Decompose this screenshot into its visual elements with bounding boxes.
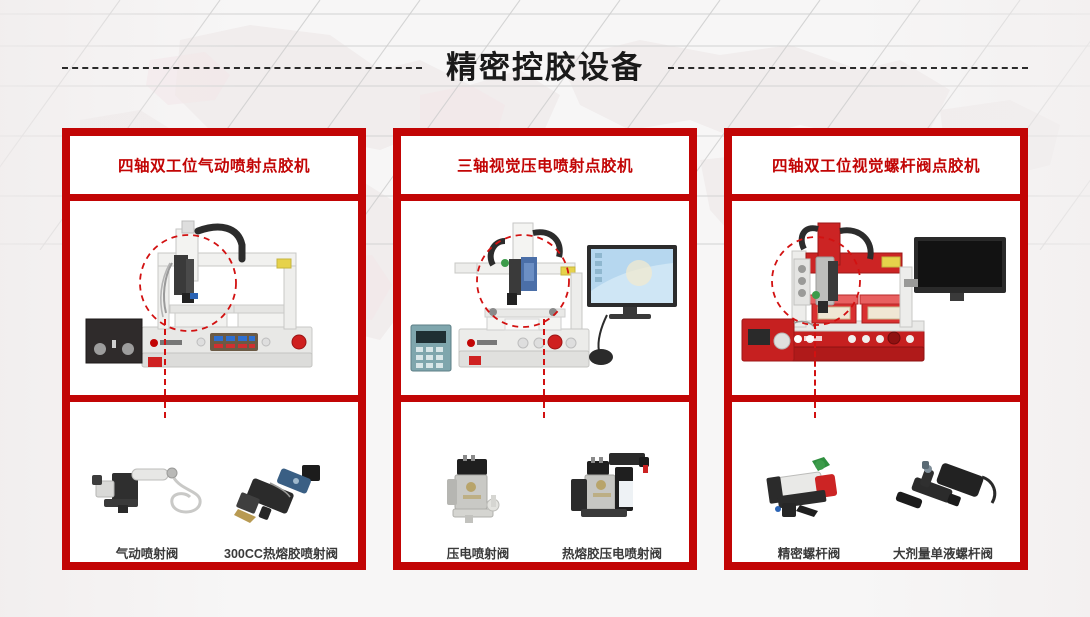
machine-illustration-four-axis-vision-screw (732, 201, 1020, 395)
card-header: 三轴视觉压电喷射点胶机 (401, 136, 689, 194)
machine-photo-panel (70, 201, 358, 395)
card-title: 四轴双工位气动喷射点胶机 (118, 154, 310, 176)
high-volume-single-liquid-screw-valve-image (878, 451, 1008, 531)
machine-photo-panel (732, 201, 1020, 395)
valve-panel: 精密螺杆阀 (732, 402, 1020, 562)
pneumatic-jet-valve-image (82, 451, 212, 531)
machine-photo-panel (401, 201, 689, 395)
product-card-pneumatic-jet[interactable]: 四轴双工位气动喷射点胶机 (62, 128, 366, 570)
card-header: 四轴双工位视觉螺杆阀点胶机 (732, 136, 1020, 194)
valve-item[interactable]: 大剂量单液螺杆阀 (878, 451, 1008, 562)
precision-screw-valve-image (744, 451, 874, 531)
valve-label: 气动喷射阀 (116, 543, 179, 562)
valve-item[interactable]: 压电喷射阀 (413, 451, 543, 562)
valve-item[interactable]: 300CC热熔胶喷射阀 (216, 451, 346, 562)
hotmelt-piezo-jet-valve-image (547, 451, 677, 531)
valve-row: 精密螺杆阀 (732, 402, 1020, 562)
page-title: 精密控胶设备 (440, 52, 650, 83)
valve-label: 大剂量单液螺杆阀 (893, 543, 993, 562)
product-card-piezo-jet[interactable]: 三轴视觉压电喷射点胶机 (393, 128, 697, 570)
valve-row: 压电喷射阀 (401, 402, 689, 562)
valve-item[interactable]: 精密螺杆阀 (744, 451, 874, 562)
product-card-screw-valve[interactable]: 四轴双工位视觉螺杆阀点胶机 (724, 128, 1028, 570)
callout-connector-line-lower (164, 402, 166, 418)
callout-connector-line-lower (814, 402, 816, 418)
title-divider-left (62, 67, 422, 69)
page-title-row: 精密控胶设备 (0, 52, 1090, 83)
product-card-list: 四轴双工位气动喷射点胶机 (62, 128, 1028, 570)
piezo-jet-valve-image (413, 451, 543, 531)
valve-panel: 压电喷射阀 (401, 402, 689, 562)
valve-label: 精密螺杆阀 (778, 543, 841, 562)
machine-illustration-three-axis-vision (401, 201, 689, 395)
card-header: 四轴双工位气动喷射点胶机 (70, 136, 358, 194)
card-title: 四轴双工位视觉螺杆阀点胶机 (772, 154, 980, 176)
valve-item[interactable]: 热熔胶压电喷射阀 (547, 451, 677, 562)
hotmelt-300cc-jet-valve-image (216, 451, 346, 531)
valve-row: 气动喷射阀 (70, 402, 358, 562)
valve-label: 压电喷射阀 (447, 543, 510, 562)
title-divider-right (668, 67, 1028, 69)
valve-label: 300CC热熔胶喷射阀 (224, 543, 338, 562)
callout-connector-line-lower (543, 402, 545, 418)
valve-item[interactable]: 气动喷射阀 (82, 451, 212, 562)
valve-panel: 气动喷射阀 (70, 402, 358, 562)
card-title: 三轴视觉压电喷射点胶机 (457, 154, 633, 176)
machine-illustration-four-axis-pneumatic (70, 201, 358, 395)
valve-label: 热熔胶压电喷射阀 (562, 543, 662, 562)
